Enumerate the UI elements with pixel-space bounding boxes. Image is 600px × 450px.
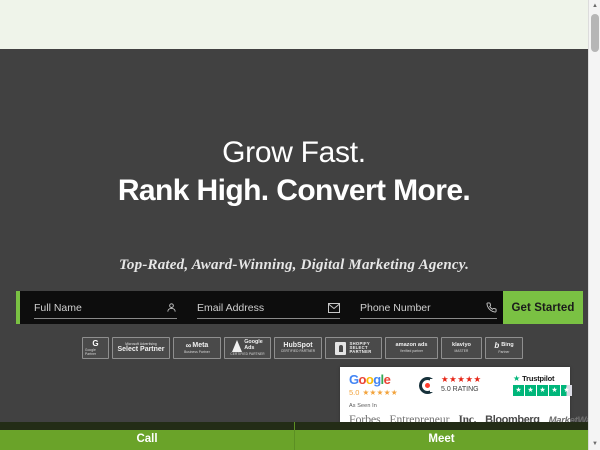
trustpilot-review-block: ★ Trustpilot ★ ★ ★ ★ ★ xyxy=(513,374,573,396)
bottom-action-bar: Call Meet xyxy=(0,422,588,450)
press-logo-marketwatch: MarketWatch xyxy=(549,415,588,422)
email-address-field[interactable] xyxy=(183,291,346,324)
trustpilot-star-4: ★ xyxy=(549,385,560,396)
page-top-strip xyxy=(0,0,588,49)
trustpilot-star-icon: ★ xyxy=(513,375,520,383)
badge-meta-row: ∞ Meta xyxy=(186,342,209,350)
badge-google-ads: Google Ads CERTIFIED PARTNER xyxy=(224,337,271,359)
clutch-logo-icon xyxy=(419,377,436,394)
google-review-block: Google 5.0 ★★★★★ xyxy=(349,373,409,397)
badge-meta-main: Meta xyxy=(192,342,208,349)
google-rating-row: 5.0 ★★★★★ xyxy=(349,388,409,397)
headline-line-2: Rank High. Convert More. xyxy=(0,173,588,209)
badge-google-partner: G Google Partner xyxy=(82,337,109,359)
clutch-stars: ★★★★★ xyxy=(441,375,482,384)
badge-amazon-main: amazon ads xyxy=(395,343,427,349)
badge-klaviyo-main: klaviyo xyxy=(452,343,471,349)
google-stars: ★★★★★ xyxy=(362,389,398,397)
press-logos-row: Forbes Entrepreneur Inc. Bloomberg Marke… xyxy=(349,412,561,422)
badge-microsoft-select-partner: Microsoft Advertising Select Partner xyxy=(112,337,170,359)
badge-hubspot: HubSpot CERTIFIED PARTNER xyxy=(274,337,322,359)
badge-google-ads-l2: Ads xyxy=(244,346,263,352)
trustpilot-star-2: ★ xyxy=(525,385,536,396)
clutch-text: ★★★★★ 5.0 RATING xyxy=(441,375,482,394)
press-logo-forbes: Forbes xyxy=(349,412,380,422)
badge-google-ads-row: Google Ads xyxy=(232,340,263,352)
badge-klaviyo-master: klaviyo MASTER xyxy=(441,337,482,359)
badge-meta-sub: Business Partner xyxy=(184,351,210,354)
trustpilot-header: ★ Trustpilot xyxy=(513,374,573,383)
badge-google-ads-sub: CERTIFIED PARTNER xyxy=(230,353,264,356)
badge-bing-main: Bing xyxy=(501,343,513,349)
hero-subtitle: Top-Rated, Award-Winning, Digital Market… xyxy=(0,257,588,274)
google-ads-triangle-icon xyxy=(232,340,242,352)
as-seen-in-label: As Seen In xyxy=(349,403,561,409)
scrollbar-thumb[interactable] xyxy=(591,14,599,52)
trustpilot-star-3: ★ xyxy=(537,385,548,396)
google-wordmark: Google xyxy=(349,373,409,386)
badge-google-sub: Google Partner xyxy=(85,349,106,355)
scroll-down-arrow-icon[interactable]: ▼ xyxy=(589,438,600,450)
full-name-input[interactable] xyxy=(34,302,162,314)
badge-microsoft-main: Select Partner xyxy=(117,346,164,353)
hero-section: Grow Fast. Rank High. Convert More. Top-… xyxy=(0,49,588,422)
phone-number-underline xyxy=(360,318,497,319)
badge-meta-business-partner: ∞ Meta Business Partner xyxy=(173,337,221,359)
phone-icon xyxy=(486,302,497,313)
partner-badges-row: G Google Partner Microsoft Advertising S… xyxy=(82,337,508,359)
press-logo-bloomberg: Bloomberg xyxy=(485,414,539,422)
phone-number-input[interactable] xyxy=(360,302,482,314)
press-logo-entrepreneur: Entrepreneur xyxy=(389,414,449,422)
full-name-field[interactable] xyxy=(20,291,183,324)
badge-hubspot-main: HubSpot xyxy=(283,342,312,349)
badge-shopify-l3: PARTNER xyxy=(349,350,371,354)
google-letter-e: e xyxy=(384,372,391,387)
full-name-underline xyxy=(34,318,177,319)
trustpilot-wordmark: Trustpilot xyxy=(522,374,554,383)
badge-klaviyo-sub: MASTER xyxy=(455,350,469,353)
bing-b-icon: b xyxy=(494,342,499,350)
badge-bing-partner: b Bing Partner xyxy=(485,337,523,359)
google-rating-value: 5.0 xyxy=(349,388,359,397)
clutch-review-block: ★★★★★ 5.0 RATING xyxy=(419,375,503,394)
scroll-up-arrow-icon[interactable]: ▲ xyxy=(589,0,600,12)
reviews-logos-row: Google 5.0 ★★★★★ ★★★★★ 5.0 RATING ★ xyxy=(340,367,570,403)
press-section: As Seen In Forbes Entrepreneur Inc. Bloo… xyxy=(340,403,570,422)
trustpilot-stars: ★ ★ ★ ★ ★ xyxy=(513,385,573,396)
badge-bing-sub: Partner xyxy=(498,351,509,354)
vertical-scrollbar[interactable]: ▲ ▼ xyxy=(588,0,600,450)
email-address-input[interactable] xyxy=(197,302,324,314)
page-root: Grow Fast. Rank High. Convert More. Top-… xyxy=(0,0,600,450)
badge-shopify-select-partner: SHOPIFY SELECT PARTNER xyxy=(325,337,382,359)
badge-bing-row: b Bing xyxy=(494,342,513,350)
badge-google-letter: G xyxy=(92,340,98,348)
meet-button[interactable]: Meet xyxy=(294,422,588,450)
badge-hubspot-sub: CERTIFIED PARTNER xyxy=(281,350,315,353)
get-started-button[interactable]: Get Started xyxy=(503,291,583,324)
meta-infinity-icon: ∞ xyxy=(186,342,191,350)
email-address-underline xyxy=(197,318,340,319)
phone-number-field[interactable] xyxy=(346,291,503,324)
lead-capture-form[interactable]: Get Started xyxy=(16,291,583,324)
google-letter-g1: G xyxy=(349,372,359,387)
google-letter-o1: o xyxy=(359,372,366,387)
clutch-rating-label: 5.0 RATING xyxy=(441,386,482,395)
envelope-icon xyxy=(328,303,340,313)
user-icon xyxy=(166,302,177,313)
badge-amazon-sub: Verified partner xyxy=(400,350,423,353)
shopify-bag-icon xyxy=(335,342,346,355)
headline-line-1: Grow Fast. xyxy=(0,135,588,171)
google-letter-g2: g xyxy=(373,372,380,387)
reviews-card: Google 5.0 ★★★★★ ★★★★★ 5.0 RATING ★ xyxy=(340,367,570,422)
call-button[interactable]: Call xyxy=(0,422,294,450)
trustpilot-star-1: ★ xyxy=(513,385,524,396)
hero-headline: Grow Fast. Rank High. Convert More. xyxy=(0,135,588,209)
press-logo-inc: Inc. xyxy=(459,414,477,422)
badge-shopify-text: SHOPIFY SELECT PARTNER xyxy=(349,342,371,355)
badge-google-ads-text: Google Ads xyxy=(244,340,263,351)
badge-amazon-ads: amazon ads Verified partner xyxy=(385,337,438,359)
trustpilot-star-5: ★ xyxy=(561,385,572,396)
